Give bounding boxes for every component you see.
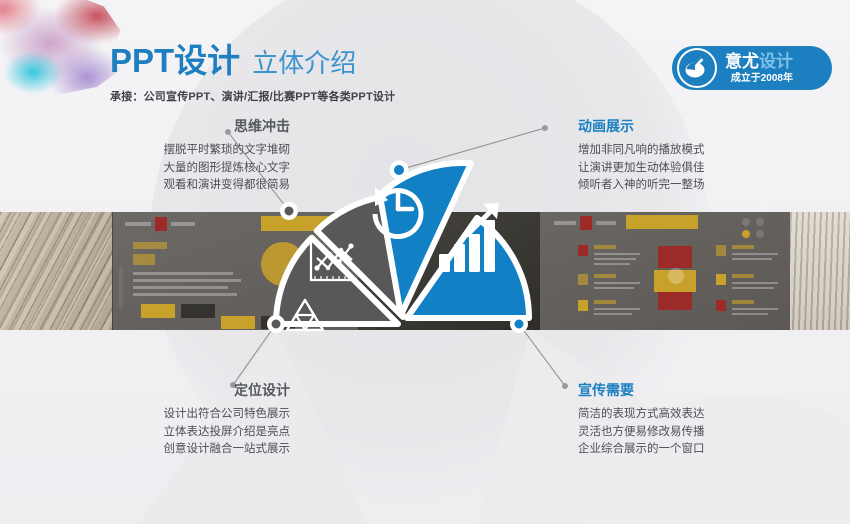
callout-line: 灵活也方便易修改易传播 [578,424,790,442]
page-header: PPT设计 立体介绍 承接：公司宣传PPT、演讲/汇报/比赛PPT等各类PPT设… [110,44,530,104]
callout-line: 倾听者入神的听完一整场 [578,177,790,195]
callout-title: 定位设计 [78,382,290,399]
callout-line: 企业综合展示的一个窗口 [578,441,790,459]
callout-line: 大量的图形提炼核心文字 [78,160,290,178]
page-subtitle: 立体介绍 [252,50,356,76]
logo-text-block: 意尤设计 成立于2008年 [725,53,793,84]
logo-brand-strong: 意尤 [725,52,759,71]
callout-line: 简洁的表现方式高效表达 [578,406,790,424]
node-bottom-right[interactable] [510,315,528,333]
brand-logo[interactable]: 意尤设计 成立于2008年 [672,46,832,90]
node-top[interactable] [390,161,409,180]
callout-line: 设计出符合公司特色展示 [78,406,290,424]
callout-top-right: 动画展示 增加非同凡响的播放模式 让演讲更加生动体验俱佳 倾听者入神的听完一整场 [578,118,790,195]
callout-line: 观看和演讲变得都很简易 [78,177,290,195]
photo-railing [790,212,850,330]
callout-line: 创意设计融合一站式展示 [78,441,290,459]
node-upper-left[interactable] [280,202,298,220]
callout-top-left: 思维冲击 摆脱平时繁琐的文字堆砌 大量的图形提炼核心文字 观看和演讲变得都很简易 [78,118,290,195]
logo-tagline: 成立于2008年 [725,74,793,84]
page-description: 承接：公司宣传PPT、演讲/汇报/比赛PPT等各类PPT设计 [110,88,530,104]
callout-bottom-right: 宣传需要 简洁的表现方式高效表达 灵活也方便易修改易传播 企业综合展示的一个窗口 [578,382,790,459]
title-row: PPT设计 立体介绍 [110,44,530,77]
page-title: PPT设计 [110,44,240,77]
callout-title: 宣传需要 [578,382,790,399]
callout-line: 立体表达投屏介绍是亮点 [78,424,290,442]
callout-bottom-left: 定位设计 设计出符合公司特色展示 立体表达投屏介绍是亮点 创意设计融合一站式展示 [78,382,290,459]
callout-line: 增加非同凡响的播放模式 [578,142,790,160]
callout-line: 摆脱平时繁琐的文字堆砌 [78,142,290,160]
callout-line: 让演讲更加生动体验俱佳 [578,160,790,178]
callout-title: 动画展示 [578,118,790,135]
logo-brand-name: 意尤设计 [725,53,793,70]
slide-canvas: PPT设计 立体介绍 承接：公司宣传PPT、演讲/汇报/比赛PPT等各类PPT设… [0,0,850,524]
callout-title: 思维冲击 [78,118,290,135]
logo-brand-light: 设计 [759,52,793,71]
mouse-pen-icon [677,48,717,88]
node-bottom-left[interactable] [267,315,285,333]
